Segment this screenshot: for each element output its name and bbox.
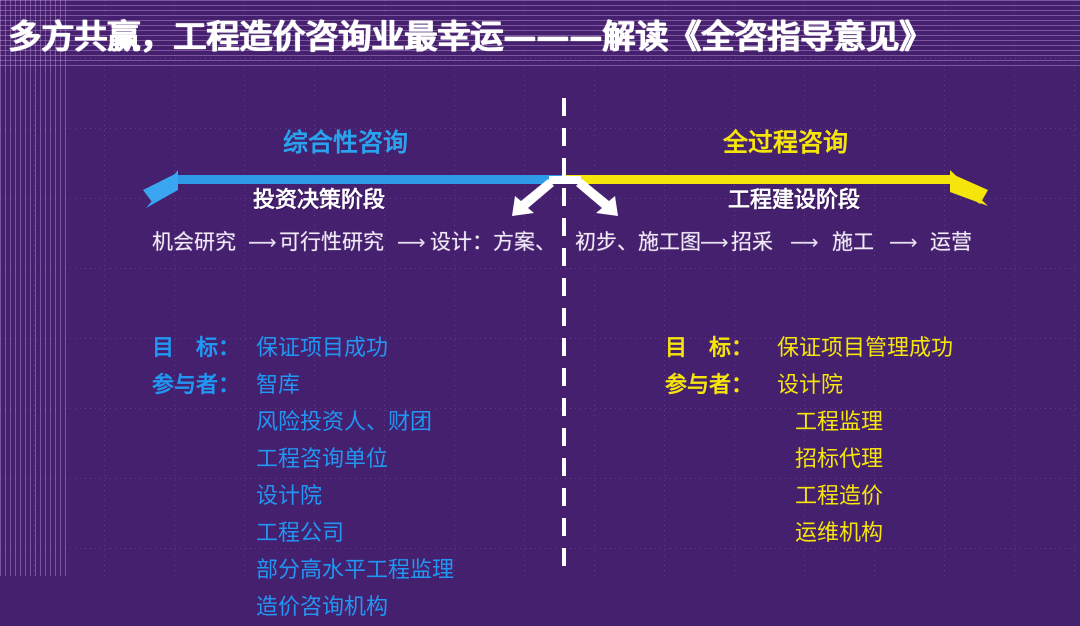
right-participants-row: 参与者： 设计院 (665, 367, 953, 404)
vertical-dashed-divider (562, 98, 566, 576)
right-goal-row: 目 标： 保证项目管理成功 (665, 330, 953, 367)
process-flow: 机会研究 ⟶ 可行性研究 ⟶ 设计：方案、 初步、施工图 ⟶ 招采 ⟶ 施工 ⟶… (0, 226, 1080, 260)
list-item: 部分高水平工程监理 (256, 552, 454, 589)
split-arrow-right-icon (576, 179, 618, 216)
right-detail-block: 目 标： 保证项目管理成功 参与者： 设计院 工程监理 招标代理 工程造价 运维… (665, 330, 953, 552)
right-participants-list: 工程监理 招标代理 工程造价 运维机构 (795, 404, 953, 552)
right-goal-label: 目 标： (665, 330, 777, 367)
list-item: 设计院 (256, 478, 454, 515)
left-goal-row: 目 标： 保证项目成功 (152, 330, 454, 367)
right-phase-title: 全过程咨询 (723, 123, 848, 159)
list-item: 工程造价 (795, 478, 953, 515)
flow-arrow-5-icon: ⟶ (790, 236, 819, 250)
right-stage-title: 工程建设阶段 (728, 182, 860, 214)
flow-step-3: 设计：方案、 (430, 226, 556, 256)
list-item: 工程监理 (795, 404, 953, 441)
flow-step-2: 可行性研究 (279, 226, 384, 256)
left-goal-value: 保证项目成功 (256, 330, 388, 367)
flow-step-6: 施工 (832, 226, 874, 256)
flow-arrow-4-icon: ⟶ (700, 236, 729, 250)
flow-arrow-2-icon: ⟶ (397, 236, 426, 250)
flow-arrow-1-icon: ⟶ (248, 236, 277, 250)
left-participants-first: 智库 (256, 367, 300, 404)
list-item: 运维机构 (795, 515, 953, 552)
right-goal-value: 保证项目管理成功 (777, 330, 953, 367)
left-participants-row: 参与者： 智库 (152, 367, 454, 404)
flow-arrow-6-icon: ⟶ (889, 236, 918, 250)
left-participants-list: 风险投资人、财团 工程咨询单位 设计院 工程公司 部分高水平工程监理 造价咨询机… (256, 404, 454, 626)
left-goal-label: 目 标： (152, 330, 256, 367)
timeline-axis (0, 150, 1080, 220)
flow-step-7: 运营 (930, 226, 972, 256)
list-item: 造价咨询机构 (256, 589, 454, 626)
left-stage-title: 投资决策阶段 (253, 182, 385, 214)
flow-step-1: 机会研究 (152, 226, 236, 256)
right-participants-first: 设计院 (777, 367, 843, 404)
page-title: 多方共赢，工程造价咨询业最幸运———解读《全咨指导意见》 (8, 10, 1072, 58)
split-arrow-left-icon (512, 179, 554, 216)
flow-step-5: 招采 (731, 226, 773, 256)
right-participants-label: 参与者： (665, 367, 777, 404)
left-participants-label: 参与者： (152, 367, 256, 404)
left-detail-block: 目 标： 保证项目成功 参与者： 智库 风险投资人、财团 工程咨询单位 设计院 … (152, 330, 454, 626)
left-phase-title: 综合性咨询 (283, 123, 408, 159)
list-item: 工程公司 (256, 515, 454, 552)
list-item: 招标代理 (795, 441, 953, 478)
flow-step-4: 初步、施工图 (575, 226, 701, 256)
list-item: 工程咨询单位 (256, 441, 454, 478)
list-item: 风险投资人、财团 (256, 404, 454, 441)
